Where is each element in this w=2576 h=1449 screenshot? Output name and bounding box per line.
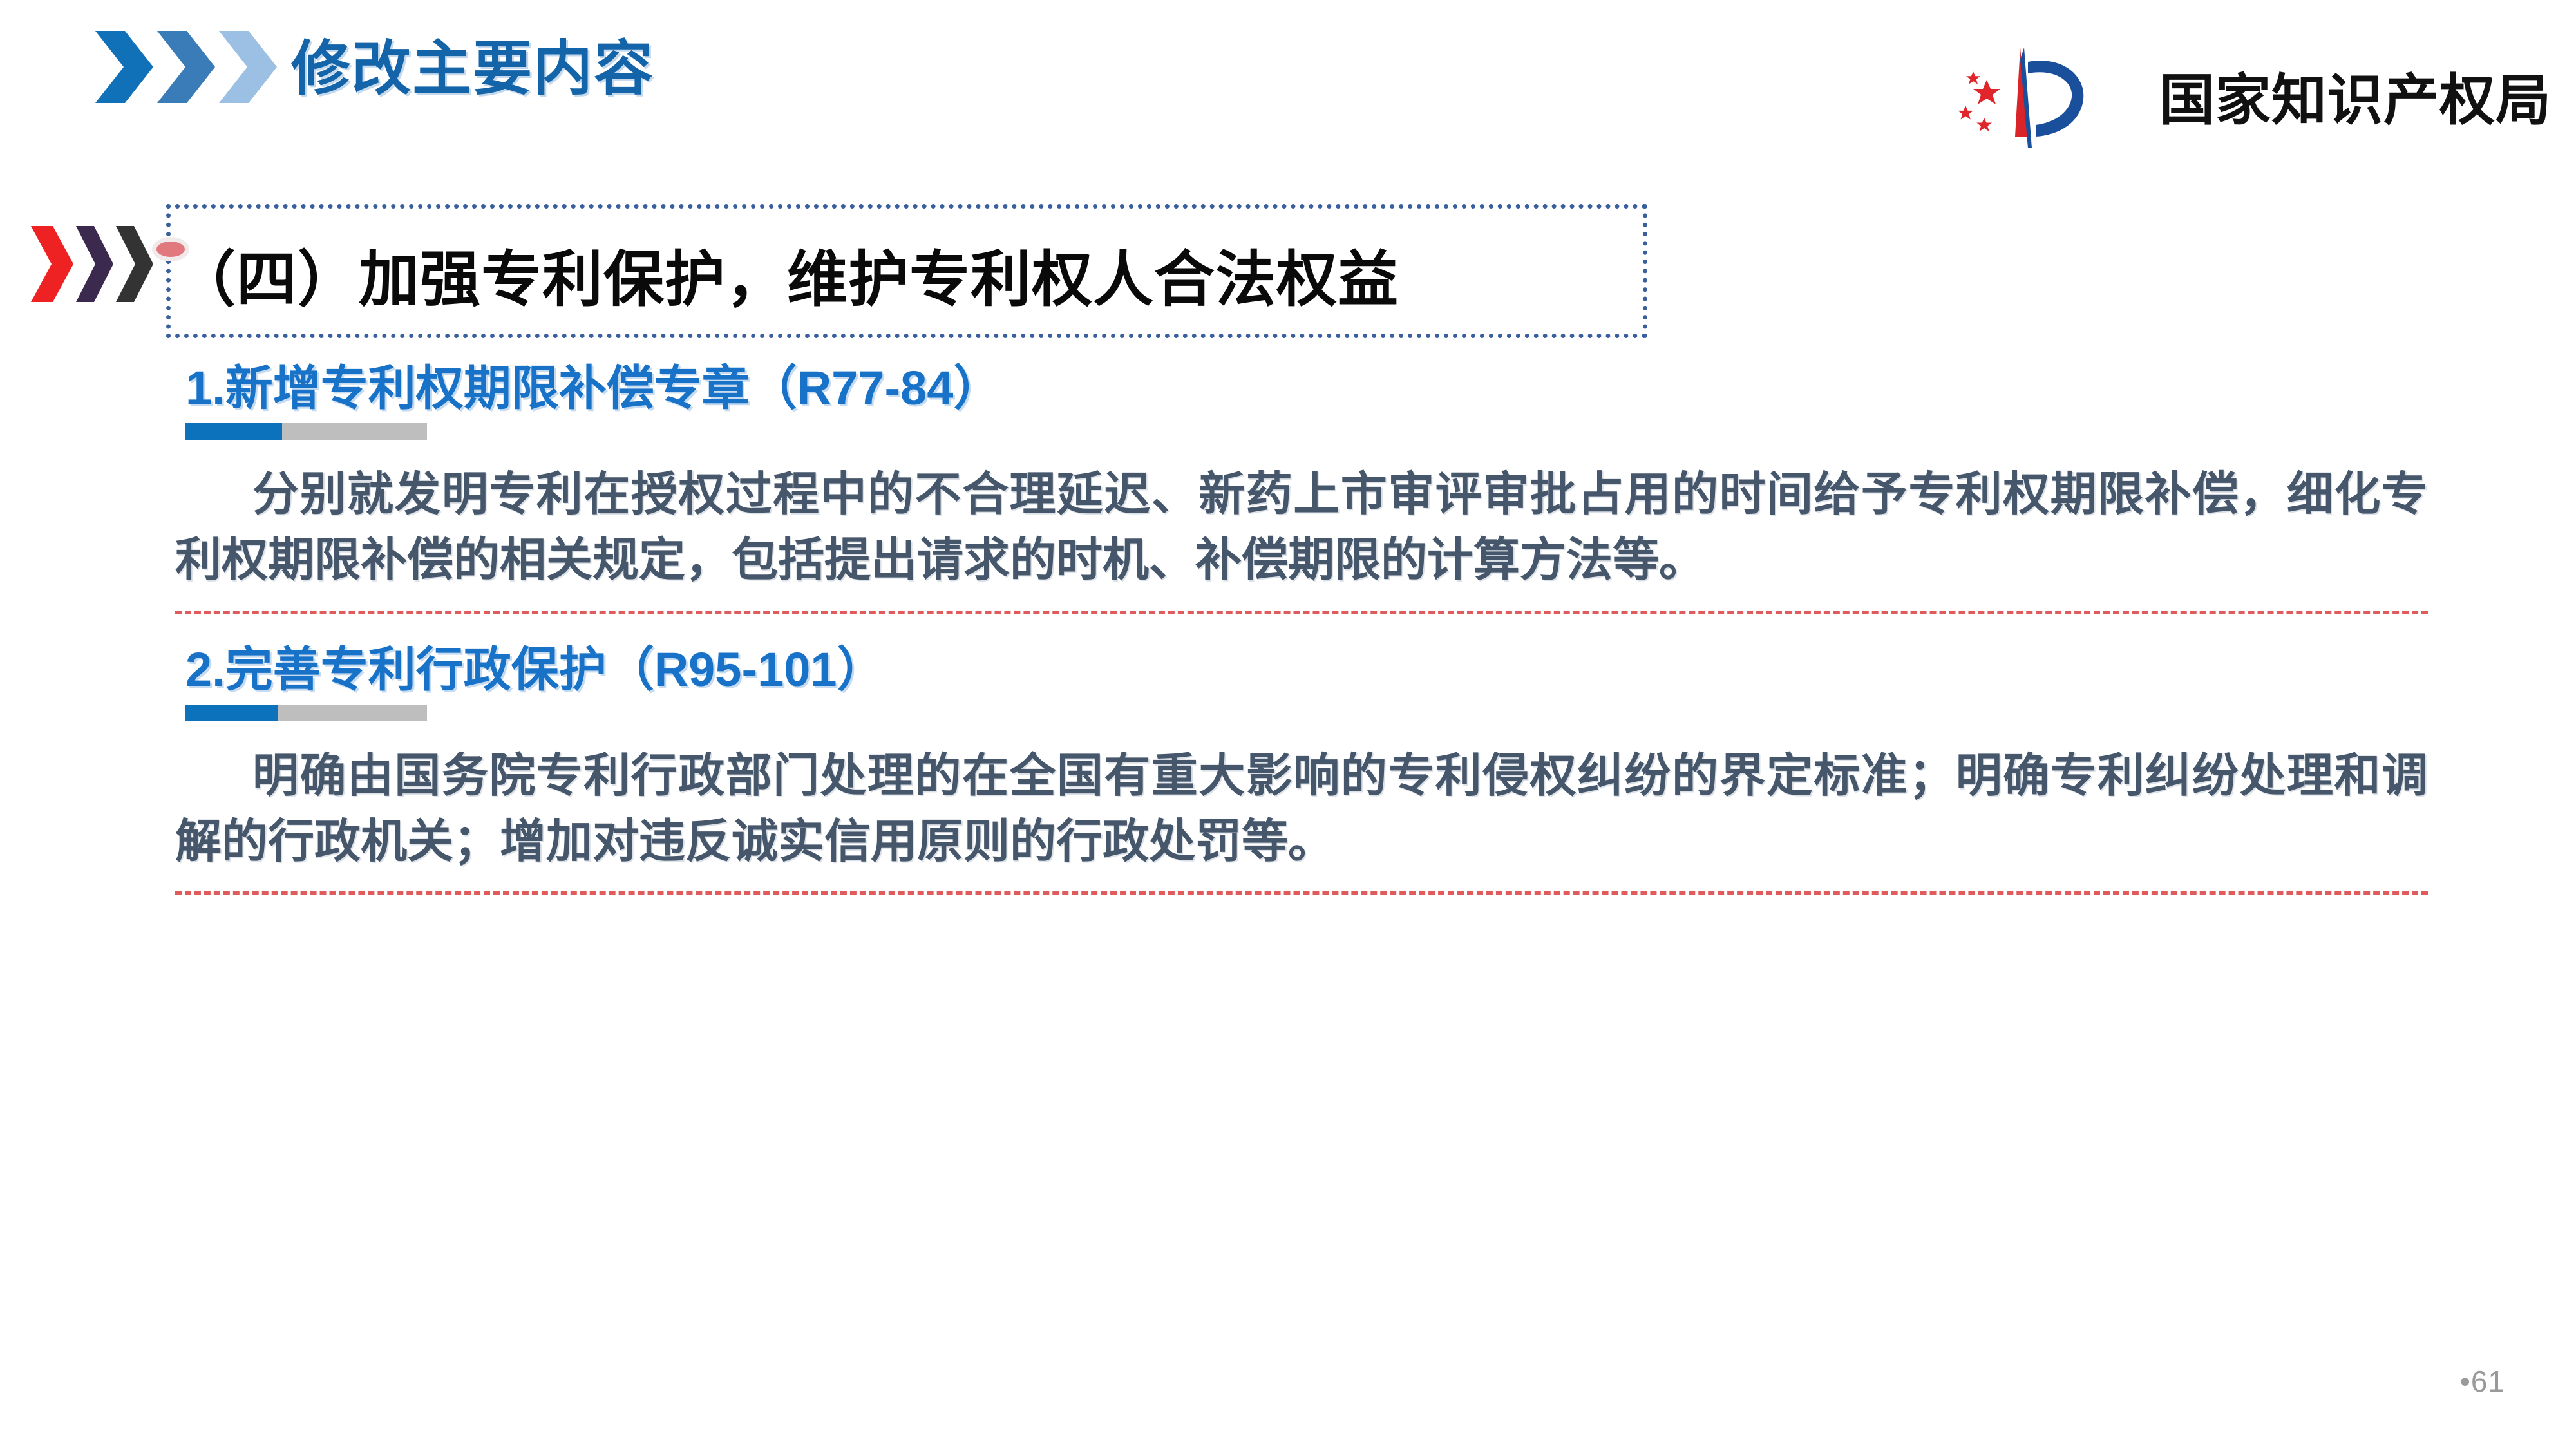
- progress-bar-track: [282, 423, 427, 440]
- progress-bar-fill: [185, 705, 278, 721]
- subsection-heading-2: 2.完善专利行政保护（R95-101）: [185, 642, 2576, 697]
- block-spacer: [0, 614, 2576, 642]
- slide-header: 修改主要内容 国家知识产权局: [0, 0, 2576, 193]
- content-block-1: 1.新增专利权期限补偿专章（R77-84） 分别就发明专利在授权过程中的不合理延…: [0, 361, 2576, 614]
- section-title: （四）加强专利保护，维护专利权人合法权益: [175, 231, 1399, 318]
- chevron-right-icon: [157, 31, 215, 103]
- chevron-right-icon: [219, 31, 277, 103]
- progress-bar-2: [185, 705, 427, 721]
- progress-bar-fill: [185, 423, 282, 440]
- paragraph-2: 明确由国务院专利行政部门处理的在全国有重大影响的专利侵权纠纷的界定标准；明确专利…: [175, 743, 2428, 875]
- section-heading-row: （四）加强专利保护，维护专利权人合法权益: [0, 196, 2576, 345]
- page-number: •61: [2460, 1364, 2505, 1399]
- logo-text: 国家知识产权局: [2159, 55, 2552, 135]
- chevron-right-icon: [76, 226, 113, 302]
- progress-bar-track: [278, 705, 428, 721]
- page-title: 修改主要内容: [291, 21, 654, 106]
- content-block-2: 2.完善专利行政保护（R95-101） 明确由国务院专利行政部门处理的在全国有重…: [0, 642, 2576, 895]
- header-chevron-group: [95, 31, 277, 103]
- slide-content: 1.新增专利权期限补偿专章（R77-84） 分别就发明专利在授权过程中的不合理延…: [0, 361, 2576, 895]
- section-chevron-group: [31, 226, 153, 302]
- paragraph-1: 分别就发明专利在授权过程中的不合理延迟、新药上市审评审批占用的时间给予专利权期限…: [175, 462, 2428, 593]
- chevron-right-icon: [95, 31, 153, 103]
- subsection-heading-1: 1.新增专利权期限补偿专章（R77-84）: [185, 361, 2576, 415]
- cnipa-emblem-icon: [1948, 33, 2148, 156]
- divider-2: [175, 891, 2428, 895]
- divider-1: [175, 611, 2428, 614]
- slide-root: 修改主要内容 国家知识产权局: [0, 0, 2576, 1449]
- chevron-right-icon: [116, 226, 153, 302]
- progress-bar-1: [185, 423, 427, 440]
- chevron-right-icon: [31, 226, 73, 302]
- cnipa-logo: 国家知识产权局: [1948, 33, 2552, 156]
